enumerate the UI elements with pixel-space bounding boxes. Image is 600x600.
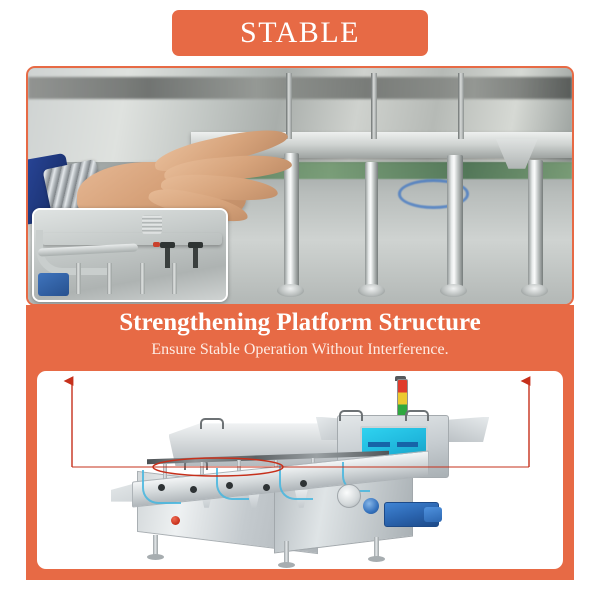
hood-handle-2 <box>339 410 363 421</box>
hood-handle-3 <box>405 410 429 421</box>
inset-leg-2 <box>107 263 112 294</box>
upper-shaft-3 <box>458 73 464 139</box>
emergency-stop-button <box>171 516 180 525</box>
bottom-photo-frame <box>26 363 574 580</box>
inset-photo-image <box>34 210 226 300</box>
product-feature-card: STABLE <box>0 0 600 600</box>
motor-hub <box>363 498 379 514</box>
inset-blue-component <box>38 273 69 296</box>
support-post-4 <box>447 155 463 290</box>
machine-foot-1 <box>153 535 158 557</box>
inset-leg-3 <box>140 263 145 294</box>
hmi-readout-right <box>397 442 418 447</box>
stable-header-badge: STABLE <box>172 10 428 56</box>
bottom-photo-inner <box>37 371 563 569</box>
inset-detail-photo <box>32 208 228 302</box>
hood-handle-1 <box>200 418 224 429</box>
caption-title: Strengthening Platform Structure <box>26 307 574 339</box>
bottom-machine-illustration <box>37 371 563 569</box>
inset-leg-1 <box>76 263 81 294</box>
caption-subtitle: Ensure Stable Operation Without Interfer… <box>26 339 574 361</box>
overhead-machinery-strip <box>28 77 572 98</box>
inset-bolt-2 <box>193 246 198 268</box>
upper-shaft-2 <box>371 73 377 139</box>
support-post-3 <box>365 162 378 289</box>
adjust-knob-2 <box>190 486 197 493</box>
hmi-readout-left <box>368 442 391 447</box>
top-photo-image <box>28 68 572 304</box>
stable-header-label: STABLE <box>240 18 360 48</box>
handwheel <box>337 484 361 508</box>
machine-foot-2 <box>284 541 289 565</box>
inset-leg-4 <box>172 263 177 294</box>
machine-foot-3 <box>374 537 379 559</box>
inset-bolt-1 <box>165 246 170 268</box>
air-tube-3 <box>279 464 313 500</box>
support-post-5 <box>528 160 543 290</box>
adjust-knob-1 <box>158 484 165 491</box>
drive-motor <box>384 502 439 528</box>
top-photo-card <box>26 66 574 306</box>
adjust-knob-4 <box>263 484 270 491</box>
inset-red-marker <box>153 242 160 247</box>
caption-band: Strengthening Platform Structure Ensure … <box>26 305 574 363</box>
inset-spring-coil <box>142 215 162 235</box>
adjust-knob-5 <box>300 480 307 487</box>
